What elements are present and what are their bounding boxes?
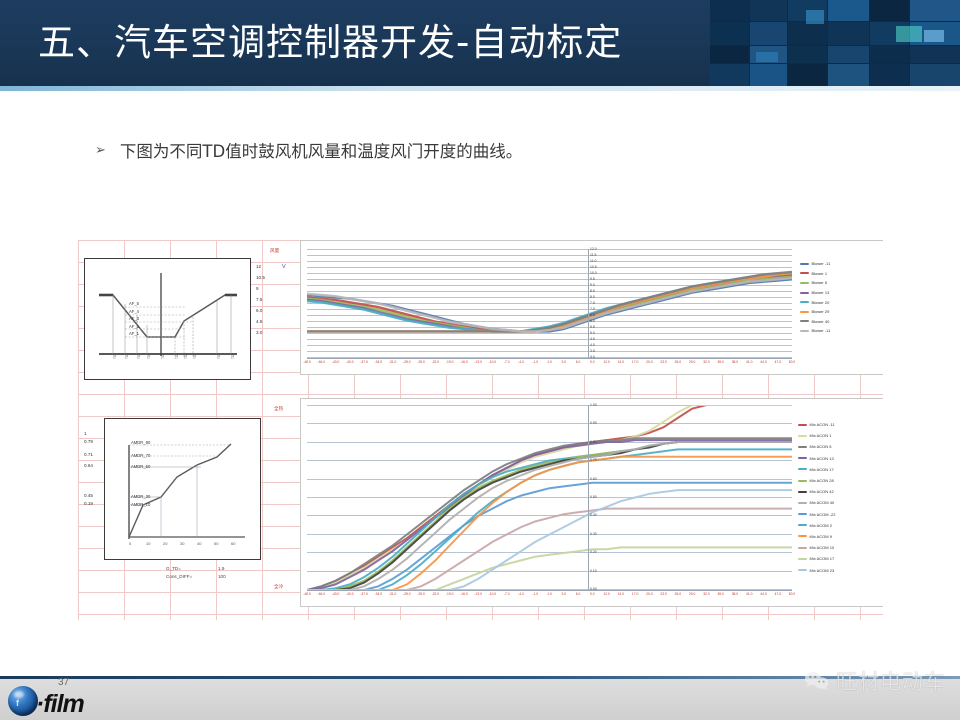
mosaic-tile [828,46,869,63]
blower-chart-x-tick: 20.0 [646,360,652,364]
mix-acon-chart-x-tick: 47.0 [775,592,781,596]
blower-red-tag: 风量 [270,248,279,254]
legend-swatch-icon [800,272,809,274]
blower-axis-tick: TD [125,355,129,359]
mix-acon-chart-series-svg [307,405,792,590]
legend-label: Mix ACOM 10 [810,545,835,550]
mix-acon-chart-x-tick: -19.0 [446,592,454,596]
mosaic-tile [788,22,827,45]
bullet-text: 下图为不同TD值时鼓风机风量和温度风门开度的曲线。 [120,138,522,162]
mix-acon-chart-x-tick: -40.0 [346,592,354,596]
title-underline [0,86,960,91]
blower-chart-y-tick: 4.5 [590,337,595,341]
amdr-y-value: 0.79 [84,439,93,444]
watermark-text: 旺材电动车 [836,666,946,696]
legend-label: Blower 13 [812,290,830,295]
blower-chart-x-tick: -48.0 [303,360,311,364]
mix-acon-chart-x-tick: -22.0 [432,592,440,596]
mosaic-accent [806,10,824,24]
blower-axis-tick: TD [231,355,235,359]
legend-label: Mix ACON 42 [810,489,834,494]
mix-acon-chart-x-tick: 6.0 [576,592,581,596]
blower-axis-tick: TD [113,355,117,359]
legend-item[interactable]: Blower -11 [800,259,883,269]
legend-item[interactable]: Mix ACOM 40 [798,497,883,508]
mosaic-tile [828,22,869,45]
mix-acon-chart-plot [307,405,792,590]
blower-curve-label: AF_1 [129,331,139,336]
mix-acon-chart-x-tick: 35.0 [717,592,723,596]
blower-y-value: 7.5 [256,297,262,302]
blower-curve-svg [85,259,250,379]
mix-acon-chart-x-tick: 38.0 [732,592,738,596]
mix-acon-chart-x-tick: -34.0 [375,592,383,596]
blower-chart-y-tick: 5.0 [590,331,595,335]
blower-curve-label: AF_5 [129,301,139,306]
mix-acon-chart-x-tick: -7.0 [504,592,510,596]
blower-chart-x-tick: -13.0 [474,360,482,364]
sheet-gridline-h [78,614,883,615]
mosaic-tile [870,0,909,21]
mix-acon-chart-y-tick: 0.40 [590,513,597,517]
blower-axis-tick: TD [184,355,188,359]
legend-label: Mix ACON 28 [810,478,834,483]
blower-axis-tick: TD [193,355,197,359]
legend-item[interactable]: Mix ACON 28 [798,475,883,486]
blower-chart-y-tick: 6.5 [590,313,595,317]
legend-item[interactable]: Mix ACON 13 [798,453,883,464]
legend-swatch-icon [798,524,807,526]
mix-acon-chart-x-tick: -28.0 [403,592,411,596]
series-line [307,490,792,590]
blower-chart-legend: Blower -11Blower 1Blower 5Blower 13Blowe… [800,259,883,336]
blower-chart-y-tick: 12.0 [590,247,597,251]
blower-axis-tick: TD [175,355,179,359]
legend-label: Blower 20 [812,300,830,305]
mosaic-tile [750,0,787,21]
legend-item[interactable]: Blower 5 [800,278,883,288]
blower-y-value: 6.0 [256,308,262,313]
amdr-x-value: 50 [214,541,218,546]
legend-label: Blower 40 [812,319,830,324]
mix-acon-chart-x-tick: 29.0 [689,592,695,596]
legend-label: Mix ACOM 2 [810,523,832,528]
blower-chart-x-tick: 3.0 [561,360,566,364]
mix-acon-chart-x-tick: 44.0 [760,592,766,596]
mosaic-tile [828,64,869,86]
legend-item[interactable]: Blower -11 [800,326,883,336]
legend-item[interactable]: Mix ACON 17 [798,464,883,475]
blower-chart-plot [307,249,792,358]
mosaic-tile [750,22,787,45]
amdr-y-value: 1 [84,431,87,436]
mix-acon-chart-value-axis [588,405,589,590]
mix-acon-chart-y-tick: 0.90 [590,421,597,425]
blower-y-value: 4.5 [256,319,262,324]
legend-swatch-icon [798,468,807,470]
legend-label: Mix ACOM 40 [810,500,835,505]
amdr-param-value: 100 [218,574,226,579]
blower-chart-x-tick: -28.0 [403,360,411,364]
mix-acon-chart-y-tick: 0.30 [590,532,597,536]
legend-item[interactable]: Mix ACOM 2 [798,520,883,531]
amdr-y-value: 0.19 [84,501,93,506]
mix-acon-chart-x-tick: -31.0 [389,592,397,596]
legend-item[interactable]: Mix ACOM 17 [798,553,883,564]
mosaic-tile [870,46,909,63]
blower-chart-y-tick: 11.0 [590,259,596,263]
blower-chart-y-tick: 3.5 [590,349,595,353]
amdr-x-value: 20 [163,541,167,546]
blower-chart-value-axis [588,249,589,358]
blower-curve-label: AF_2 [129,324,139,329]
legend-swatch-icon [798,435,807,437]
legend-item[interactable]: Mix ACON -11 [798,419,883,430]
amdr-curve-label: AMDR_50 [131,464,150,469]
bullet-arrow-icon: ➢ [95,143,106,158]
mix-acon-chart-y-tick: 0.20 [590,550,597,554]
mix-acon-chart-y-tick: 0.70 [590,458,597,462]
legend-swatch-icon [800,330,809,332]
mosaic-tile [828,0,869,21]
mix-acon-chart-y-tick: 0.80 [590,440,597,444]
amdr-x-value: 40 [197,541,201,546]
mix-acon-chart-x-tick: 32.0 [703,592,709,596]
blower-chart-x-tick: -16.0 [460,360,468,364]
blower-chart-series-svg [307,249,792,358]
mini-chart-amdr-plot: AMDR_90AMDR_70AMDR_50AMDR_30AMDR_1001020… [105,419,260,559]
blower-chart-x-tick: 41.0 [746,360,752,364]
mosaic-accent [896,26,922,42]
watermark: 旺材电动车 [804,666,946,696]
series-line [307,278,792,331]
mix-acon-chart-x-tick: 3.0 [561,592,566,596]
blower-chart-x-tick: 6.0 [576,360,581,364]
blower-chart-x-tick: 50.0 [789,360,795,364]
series-line [307,405,792,590]
blower-chart-x-tick: -22.0 [432,360,440,364]
blower-chart-y-tick: 7.5 [590,301,595,305]
legend-item[interactable]: Mix ACOM -22 [798,509,883,520]
logo-gloss [14,691,24,698]
mix-acon-chart-y-tick: 1.00 [590,403,597,407]
legend-item[interactable]: Mix ACON 5 [798,441,883,452]
blower-chart-x-tick: -34.0 [375,360,383,364]
amdr-red-tag-top: 全热 [274,406,283,412]
legend-swatch-icon [798,480,807,482]
amdr-param-name: Cons_DIFF= [166,574,192,579]
blower-chart-x-tick: 17.0 [632,360,638,364]
blower-chart-category-axis [307,358,792,359]
amdr-x-value: 10 [146,541,150,546]
blower-chart-y-tick: 8.5 [590,289,595,293]
legend-swatch-icon [800,311,809,313]
mix-acon-chart-y-tick: 0.50 [590,495,597,499]
mix-acon-chart-x-tick: 9.0 [590,592,595,596]
blower-chart-y-tick: 9.5 [590,277,595,281]
blower-chart-x-tick: -7.0 [504,360,510,364]
amdr-curve-label: AMDR_70 [131,453,150,458]
mix-acon-chart-x-tick: -4.0 [518,592,524,596]
blower-chart-y-tick: 9.0 [590,283,595,287]
legend-swatch-icon [798,569,807,571]
legend-swatch-icon [798,457,807,459]
mini-chart-amdr: AMDR_90AMDR_70AMDR_50AMDR_30AMDR_1001020… [104,418,261,560]
mix-acon-chart-x-tick: 17.0 [632,592,638,596]
blower-chart-x-tick: 47.0 [775,360,781,364]
legend-item[interactable]: Mix ACOM 9 [798,531,883,542]
mosaic-tile [788,46,827,63]
legend-swatch-icon [800,301,809,303]
amdr-curve-svg [105,419,260,559]
legend-swatch-icon [798,446,807,448]
legend-swatch-icon [798,502,807,504]
legend-swatch-icon [800,282,809,284]
mix-acon-chart-x-tick: -1.0 [532,592,538,596]
amdr-x-value: 60 [231,541,235,546]
mix-acon-chart-x-tick: 12.0 [603,592,609,596]
legend-label: Mix ACON 5 [810,444,832,449]
blower-chart-y-tick: 8.0 [590,295,595,299]
series-line [307,405,792,590]
title-decoration-mosaic [710,0,960,86]
mosaic-tile [750,64,787,86]
blower-chart-x-tick: 14.0 [618,360,624,364]
legend-item[interactable]: Blower 13 [800,288,883,298]
blower-axis-tick: TD [147,355,151,359]
blower-chart-x-tick: 26.0 [675,360,681,364]
legend-item[interactable]: Mix ACON 42 [798,486,883,497]
mix-acon-chart-x-tick: 20.0 [646,592,652,596]
blower-chart-x-tick: -4.0 [518,360,524,364]
blower-chart-y-tick: 7.0 [590,307,595,311]
blower-chart-x-tick: 23.0 [660,360,666,364]
legend-label: Mix ACOM -22 [810,512,836,517]
legend-label: Mix ACOM 9 [810,534,832,539]
legend-item[interactable]: Blower 29 [800,307,883,317]
blower-chart-x-tick: -19.0 [446,360,454,364]
blower-chart-x-tick: 38.0 [732,360,738,364]
blower-chart-y-tick: 11.5 [590,253,596,257]
mix-acon-chart-x-tick: -16.0 [460,592,468,596]
legend-label: Mix ACON 13 [810,456,834,461]
legend-label: Blower 29 [812,309,830,314]
blower-chart-y-tick: 10.5 [590,265,597,269]
mosaic-tile [910,64,960,86]
page-title: 五、汽车空调控制器开发-自动标定 [38,16,622,70]
blower-chart-y-tick: 10.0 [590,271,597,275]
amdr-curve-label: AMDR_10 [131,502,150,507]
mix-acon-chart: 1.000.900.800.700.600.500.400.300.200.10… [300,398,883,607]
mix-acon-chart-x-tick: -43.0 [332,592,340,596]
mix-acon-chart-x-tick: -48.0 [303,592,311,596]
slide-title-bar: 五、汽车空调控制器开发-自动标定 [0,0,960,86]
logo-mark: f [16,698,19,708]
mosaic-tile [910,46,960,63]
legend-label: Blower -11 [812,261,831,266]
excel-screenshot-area: AF_5AF_4AF_3AF_2AF_1TDTDTDTDTDTDTDTDTDTD… [78,240,883,620]
mix-acon-chart-y-tick: 0.10 [590,569,597,573]
legend-label: Mix ACON -11 [810,422,835,427]
legend-swatch-icon [798,558,807,560]
mix-acon-chart-x-tick: 50.0 [789,592,795,596]
mix-acon-chart-x-tick: -10.0 [489,592,497,596]
mix-acon-chart-category-axis [307,590,792,591]
mosaic-accent [756,52,778,62]
blower-chart-x-tick: 12.0 [603,360,609,364]
legend-item[interactable]: Mix ACOM 23 [798,564,883,575]
blower-chart-x-tick: -25.0 [417,360,425,364]
legend-label: Mix ACOM 23 [810,568,835,573]
legend-swatch-icon [798,491,807,493]
blower-y-value: 12 [256,264,261,269]
blower-y-value: 10.5 [256,275,265,280]
blower-chart-x-tick: -10.0 [489,360,497,364]
legend-label: Mix ACON 1 [810,433,832,438]
legend-item[interactable]: Mix ACOM 10 [798,542,883,553]
legend-item[interactable]: Blower 1 [800,269,883,279]
legend-item[interactable]: Blower 40 [800,317,883,327]
blower-y-value: 9 [256,286,259,291]
legend-swatch-icon [800,292,809,294]
blower-chart-x-tick: -40.0 [346,360,354,364]
bullet-row: ➢ 下图为不同TD值时鼓风机风量和温度风门开度的曲线。 [95,137,855,163]
mix-acon-chart-x-tick: 26.0 [675,592,681,596]
legend-label: Mix ACON 17 [810,467,834,472]
blower-unit-label: V [282,264,286,270]
amdr-x-value: 30 [180,541,184,546]
amdr-curve-label: AMDR_30 [131,494,150,499]
mix-acon-chart-x-tick: -13.0 [474,592,482,596]
blower-axis-tick: TD [137,355,141,359]
blower-y-value: 3.0 [256,330,262,335]
legend-label: Blower -11 [812,328,831,333]
amdr-red-tag-bottom: 全冷 [274,584,283,590]
mosaic-tile [710,64,749,86]
mix-acon-chart-x-tick: 1.0 [547,592,552,596]
amdr-x-value: 0 [129,541,131,546]
mini-chart-blower: AF_5AF_4AF_3AF_2AF_1TDTDTDTDTDTDTDTDTDTD [84,258,251,380]
legend-label: Blower 1 [812,271,828,276]
amdr-y-value: 0.64 [84,463,93,468]
blower-chart-x-tick: -46.0 [317,360,325,364]
blower-axis-tick: TD [217,355,221,359]
mix-acon-chart-x-tick: -25.0 [417,592,425,596]
legend-swatch-icon [798,547,807,549]
blower-chart-x-tick: 29.0 [689,360,695,364]
blower-chart-x-tick: 44.0 [760,360,766,364]
mosaic-tile [710,22,749,45]
wechat-icon [804,671,830,691]
mix-acon-chart-x-tick: 14.0 [618,592,624,596]
amdr-y-value: 0.45 [84,493,93,498]
blower-chart-x-tick: -31.0 [389,360,397,364]
blower-chart-x-tick: -43.0 [332,360,340,364]
legend-swatch-icon [800,320,809,322]
legend-swatch-icon [798,513,807,515]
legend-label: Mix ACOM 17 [810,556,835,561]
mix-acon-chart-y-tick: 0.60 [590,477,597,481]
blower-chart-x-tick: -1.0 [532,360,538,364]
sheet-gridline-v [78,240,79,620]
blower-curve-label: AF_3 [129,316,139,321]
mix-acon-chart-legend: Mix ACON -11Mix ACON 1Mix ACON 5Mix ACON… [798,419,883,576]
mix-acon-chart-x-tick: -46.0 [317,592,325,596]
blower-chart-x-tick: 32.0 [703,360,709,364]
blower-axis-tick: TD [161,355,165,359]
mosaic-tile [710,0,749,21]
mosaic-tile [710,46,749,63]
mosaic-tile [870,64,909,86]
legend-item[interactable]: Mix ACON 1 [798,430,883,441]
mosaic-tile [788,64,827,86]
blower-chart-x-tick: 35.0 [717,360,723,364]
legend-swatch-icon [798,424,807,426]
blower-chart-y-tick: 5.5 [590,325,595,329]
mini-chart-blower-plot: AF_5AF_4AF_3AF_2AF_1TDTDTDTDTDTDTDTDTDTD [85,259,250,379]
amdr-y-value: 0.71 [84,452,93,457]
blower-chart-y-tick: 6.0 [590,319,595,323]
series-line [307,483,792,590]
amdr-curve-label: AMDR_90 [131,440,150,445]
blower-chart-x-tick: -37.0 [360,360,368,364]
amdr-param-name: G_TD= [166,566,181,571]
blower-chart-x-tick: 9.0 [590,360,595,364]
blower-chart-x-tick: 1.0 [547,360,552,364]
mix-acon-chart-x-tick: -37.0 [360,592,368,596]
blower-chart-y-tick: 4.0 [590,343,595,347]
film-logo-text: ·film [36,690,84,719]
series-line [307,272,792,331]
legend-label: Blower 5 [812,280,828,285]
mosaic-tile [910,0,960,21]
mix-acon-chart-x-tick: 23.0 [660,592,666,596]
blower-chart: 12.011.511.010.510.09.59.08.58.07.57.06.… [300,240,883,375]
mix-acon-chart-x-tick: 41.0 [746,592,752,596]
page-number: 37 [58,677,69,688]
legend-item[interactable]: Blower 20 [800,297,883,307]
mosaic-accent [924,30,944,42]
amdr-param-value: 1.9 [218,566,224,571]
legend-swatch-icon [800,263,809,265]
film-logo-icon: f [8,686,38,716]
sheet-gridline-h [78,394,883,395]
blower-curve-label: AF_4 [129,309,139,314]
legend-swatch-icon [798,535,807,537]
